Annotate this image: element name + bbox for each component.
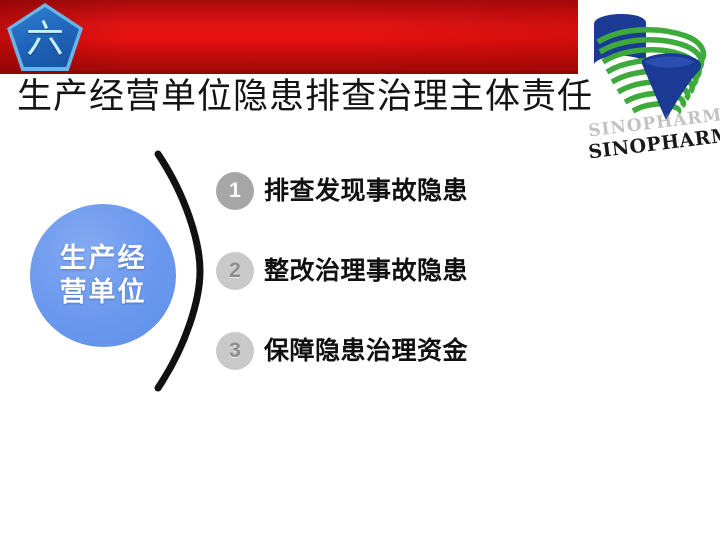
list-item-label: 排查发现事故隐患 [264, 171, 468, 211]
responsibility-list: 1 排查发现事故隐患 2 整改治理事故隐患 3 保障隐患治理资金 [216, 168, 636, 408]
section-number-badge: 六 [7, 3, 83, 71]
list-item[interactable]: 3 保障隐患治理资金 [216, 328, 636, 408]
list-item-label: 整改治理事故隐患 [264, 251, 468, 291]
list-item-number-badge: 1 [216, 172, 254, 210]
banner-bottom-edge [0, 71, 578, 74]
subject-circle-line-1: 生产经 [60, 242, 147, 276]
slide-canvas: 六 生产经营单位隐患排查治理主体责任 SINOPHARM SI [0, 0, 720, 540]
list-item-number-badge: 2 [216, 252, 254, 290]
page-title: 生产经营单位隐患排查治理主体责任 [17, 76, 593, 118]
curly-brace-icon [152, 150, 216, 392]
section-number-label: 六 [7, 3, 83, 71]
list-item-label: 保障隐患治理资金 [264, 331, 468, 371]
brace-connector [152, 150, 216, 392]
subject-circle-line-2: 营单位 [60, 276, 147, 310]
list-item[interactable]: 1 排查发现事故隐患 [216, 168, 636, 248]
banner-gloss [0, 0, 578, 73]
list-item[interactable]: 2 整改治理事故隐患 [216, 248, 636, 328]
sinopharm-logo-icon [580, 2, 718, 122]
list-item-number-badge: 3 [216, 332, 254, 370]
header-banner [0, 0, 578, 73]
sinopharm-logo-block: SINOPHARM SINOPHARM [580, 2, 718, 162]
